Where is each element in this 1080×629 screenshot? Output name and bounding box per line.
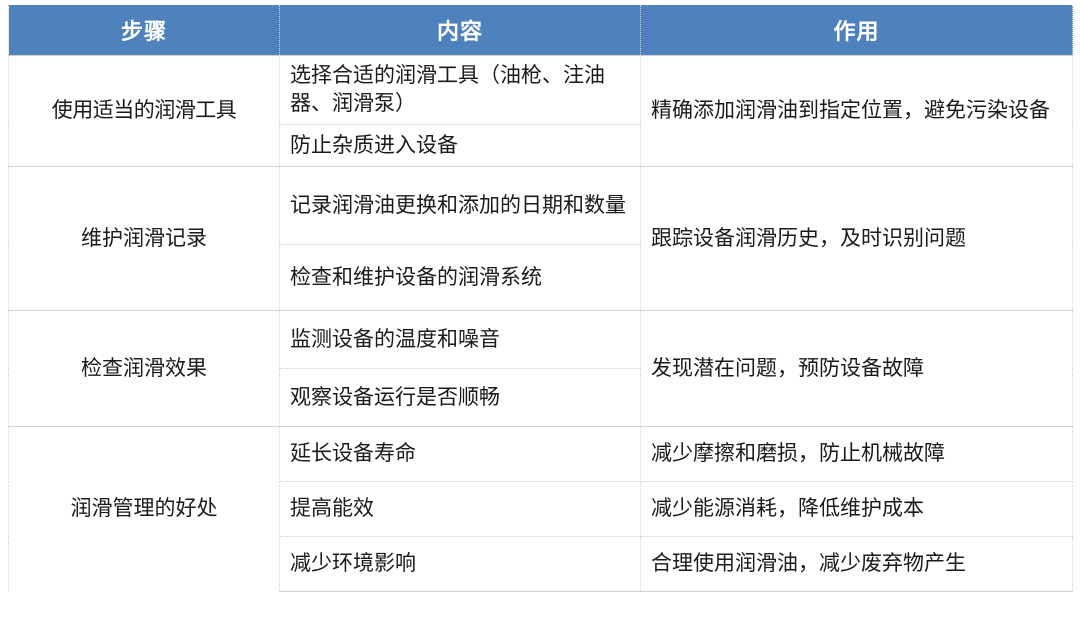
column-header-effect: 作用 bbox=[641, 5, 1073, 55]
content-cell-3-2: 观察设备运行是否顺畅 bbox=[280, 369, 641, 427]
content-cell-4-1: 延长设备寿命 bbox=[280, 427, 641, 482]
table-header: 步骤 内容 作用 bbox=[9, 5, 1073, 55]
lubrication-table-container: 步骤 内容 作用 使用适当的润滑工具 选择合适的润滑工具（油枪、注油器、润滑泵）… bbox=[8, 5, 1072, 625]
effect-cell-4-1: 减少摩擦和磨损，防止机械故障 bbox=[641, 427, 1073, 482]
column-header-content: 内容 bbox=[280, 5, 641, 55]
lubrication-management-table: 步骤 内容 作用 使用适当的润滑工具 选择合适的润滑工具（油枪、注油器、润滑泵）… bbox=[8, 5, 1073, 592]
content-cell-4-2: 提高能效 bbox=[280, 482, 641, 537]
table-row: 检查润滑效果 监测设备的温度和噪音 发现潜在问题，预防设备故障 bbox=[9, 311, 1073, 369]
content-cell-1-1: 选择合适的润滑工具（油枪、注油器、润滑泵） bbox=[280, 55, 641, 125]
effect-cell-4-3: 合理使用润滑油，减少废弃物产生 bbox=[641, 537, 1073, 592]
table-row: 使用适当的润滑工具 选择合适的润滑工具（油枪、注油器、润滑泵） 精确添加润滑油到… bbox=[9, 55, 1073, 125]
step-cell-3: 检查润滑效果 bbox=[9, 311, 280, 427]
content-cell-4-3: 减少环境影响 bbox=[280, 537, 641, 592]
table-row: 维护润滑记录 记录润滑油更换和添加的日期和数量 跟踪设备润滑历史，及时识别问题 bbox=[9, 167, 1073, 245]
content-cell-3-1: 监测设备的温度和噪音 bbox=[280, 311, 641, 369]
effect-cell-3-1: 发现潜在问题，预防设备故障 bbox=[641, 311, 1073, 427]
step-cell-1: 使用适当的润滑工具 bbox=[9, 55, 280, 167]
content-cell-2-1: 记录润滑油更换和添加的日期和数量 bbox=[280, 167, 641, 245]
table-body: 使用适当的润滑工具 选择合适的润滑工具（油枪、注油器、润滑泵） 精确添加润滑油到… bbox=[9, 55, 1073, 592]
column-header-step: 步骤 bbox=[9, 5, 280, 55]
table-header-row: 步骤 内容 作用 bbox=[9, 5, 1073, 55]
effect-cell-1-1: 精确添加润滑油到指定位置，避免污染设备 bbox=[641, 55, 1073, 167]
content-cell-1-2: 防止杂质进入设备 bbox=[280, 125, 641, 167]
effect-cell-4-2: 减少能源消耗，降低维护成本 bbox=[641, 482, 1073, 537]
step-cell-2: 维护润滑记录 bbox=[9, 167, 280, 311]
content-cell-2-2: 检查和维护设备的润滑系统 bbox=[280, 245, 641, 311]
effect-cell-2-1: 跟踪设备润滑历史，及时识别问题 bbox=[641, 167, 1073, 311]
table-row: 润滑管理的好处 延长设备寿命 减少摩擦和磨损，防止机械故障 bbox=[9, 427, 1073, 482]
step-cell-4: 润滑管理的好处 bbox=[9, 427, 280, 592]
